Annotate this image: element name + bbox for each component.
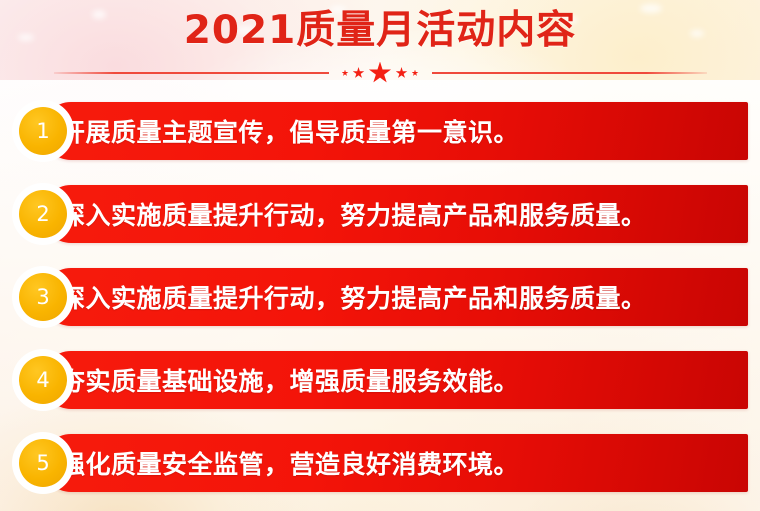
star-divider: [0, 62, 760, 84]
divider-rule-right: [432, 72, 707, 74]
divider-stars: [329, 62, 432, 85]
star-icon: [396, 67, 408, 79]
list-item-text: 深入实施质量提升行动，努力提高产品和服务质量。: [60, 268, 744, 326]
page-title: 2021质量月活动内容: [0, 8, 760, 54]
list-item[interactable]: 夯实质量基础设施，增强质量服务效能。 4: [0, 351, 760, 409]
list-item-badge: 1: [12, 100, 74, 162]
list-item[interactable]: 深入实施质量提升行动，努力提高产品和服务质量。 2: [0, 185, 760, 243]
activity-list: 开展质量主题宣传，倡导质量第一意识。 1 深入实施质量提升行动，努力提高产品和服…: [0, 96, 760, 511]
divider-rule-left: [54, 72, 329, 74]
star-icon: [369, 62, 392, 85]
list-item-text: 强化质量安全监管，营造良好消费环境。: [60, 434, 744, 492]
list-item-badge: 5: [12, 432, 74, 494]
list-item-text: 开展质量主题宣传，倡导质量第一意识。: [60, 102, 744, 160]
star-icon: [353, 67, 365, 79]
list-item-text: 深入实施质量提升行动，努力提高产品和服务质量。: [60, 185, 744, 243]
list-item-number: 1: [19, 107, 67, 155]
list-item-badge: 4: [12, 349, 74, 411]
list-item[interactable]: 开展质量主题宣传，倡导质量第一意识。 1: [0, 102, 760, 160]
list-item-badge: 2: [12, 183, 74, 245]
list-item[interactable]: 强化质量安全监管，营造良好消费环境。 5: [0, 434, 760, 492]
list-item-number: 5: [19, 439, 67, 487]
poster-canvas: 2021质量月活动内容 开展质量主题宣传，倡导质量第一意识。 1 深入实施质量提…: [0, 0, 760, 511]
list-item-badge: 3: [12, 266, 74, 328]
star-icon: [342, 70, 349, 77]
list-item[interactable]: 深入实施质量提升行动，努力提高产品和服务质量。 3: [0, 268, 760, 326]
list-item-number: 4: [19, 356, 67, 404]
list-item-number: 2: [19, 190, 67, 238]
star-icon: [412, 70, 419, 77]
list-item-text: 夯实质量基础设施，增强质量服务效能。: [60, 351, 744, 409]
list-item-number: 3: [19, 273, 67, 321]
poster-header: 2021质量月活动内容: [0, 0, 760, 92]
